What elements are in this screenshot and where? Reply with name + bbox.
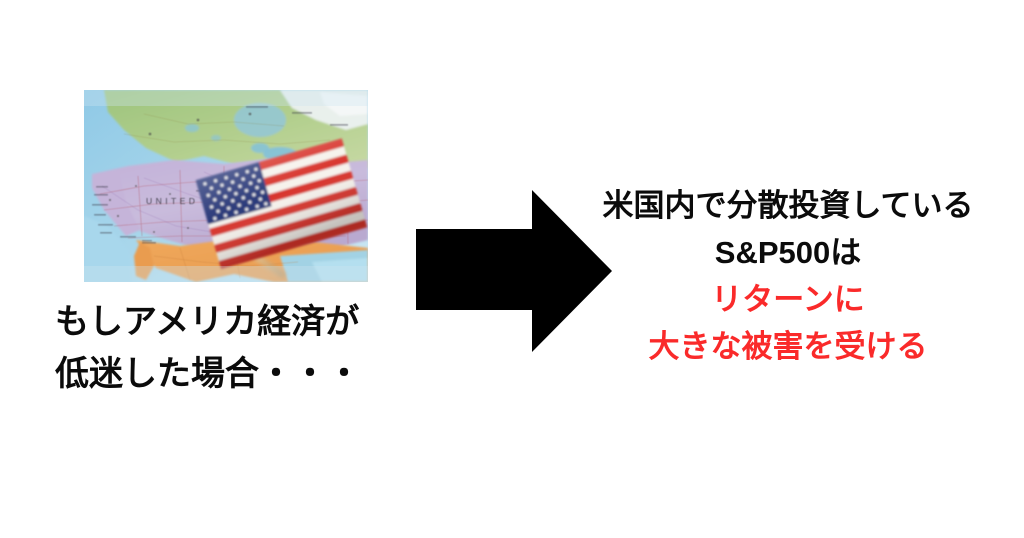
caption-right-line-1: 米国内で分散投資している (562, 182, 1014, 229)
caption-right-line-3: リターンに (562, 276, 1014, 323)
caption-left-line-1: もしアメリカ経済が (55, 296, 415, 348)
caption-right-line-2: S&P500は (562, 229, 1014, 276)
caption-left-line-2: 低迷した場合・・・ (55, 348, 415, 400)
usa-map-with-american-flag-photo: UNITED S (84, 90, 368, 282)
caption-left: もしアメリカ経済が 低迷した場合・・・ (55, 296, 415, 400)
caption-right: 米国内で分散投資している S&P500は リターンに 大きな被害を受ける (562, 182, 1014, 370)
slide-canvas: UNITED S (0, 0, 1024, 538)
caption-right-line-4: 大きな被害を受ける (562, 323, 1014, 370)
